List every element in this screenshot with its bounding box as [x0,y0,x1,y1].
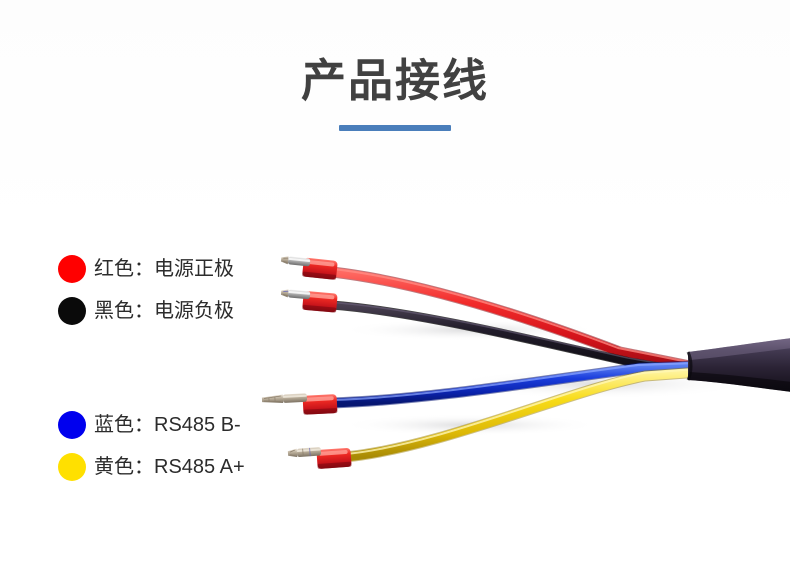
wire-color-legend: 红色：电源正极 黑色：电源负极 蓝色：RS485 B- 黄色：RS485 A+ [58,248,318,488]
legend-item-red-label: 红色：电源正极 [94,259,234,279]
cable-sheath [688,338,790,392]
legend-group-spacer [58,332,318,404]
blue-color-swatch-icon [58,411,86,439]
page-title: 产品接线 [0,56,790,106]
black-wire [332,303,700,375]
legend-item-black-label: 黑色：电源负极 [94,301,234,321]
black-color-swatch-icon [58,297,86,325]
title-underline-bar [339,125,451,131]
yellow-wire [345,369,700,457]
red-color-swatch-icon [58,255,86,283]
yellow-color-swatch-icon [58,453,86,481]
legend-item-blue-label: 蓝色：RS485 B- [94,415,241,435]
legend-item-red: 红色：电源正极 [58,248,318,290]
blue-wire [332,363,700,403]
title-block: 产品接线 [0,56,790,131]
legend-item-yellow-label: 黄色：RS485 A+ [94,457,245,477]
yellow-wire-ferrule [316,448,351,469]
product-wiring-page: 产品接线 [0,0,790,585]
red-wire [332,269,700,368]
legend-item-blue: 蓝色：RS485 B- [58,404,318,446]
legend-item-black: 黑色：电源负极 [58,290,318,332]
legend-item-yellow: 黄色：RS485 A+ [58,446,318,488]
